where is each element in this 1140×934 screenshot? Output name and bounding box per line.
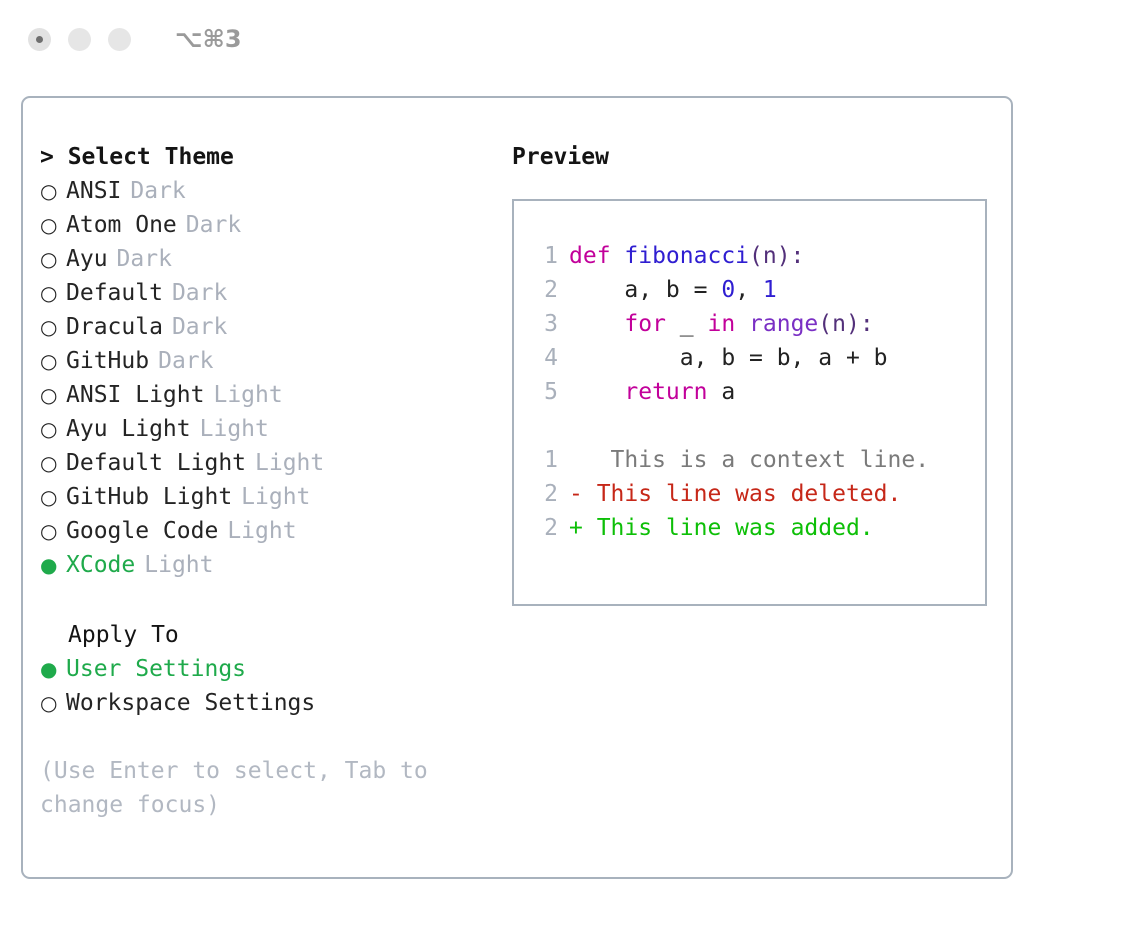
diff-line-text: This is a context line. xyxy=(597,443,929,477)
theme-variant-label: Dark xyxy=(172,276,227,310)
theme-name-label: Default Light xyxy=(66,446,246,480)
theme-list-item[interactable]: ○GitHub LightLight xyxy=(40,480,493,514)
theme-name-label: XCode xyxy=(66,548,135,582)
preview-spacer xyxy=(530,409,985,443)
theme-name-label: GitHub Light xyxy=(66,480,232,514)
theme-variant-label: Light xyxy=(255,446,324,480)
code-line: 4 a, b = b, a + b xyxy=(530,341,985,375)
apply-to-option[interactable]: ●User Settings xyxy=(40,652,493,686)
radio-unselected-icon[interactable]: ○ xyxy=(40,412,66,446)
window-dot-third[interactable] xyxy=(108,28,131,51)
panel-columns: > Select Theme ○ANSIDark○Atom OneDark○Ay… xyxy=(23,98,1011,877)
theme-name-label: Atom One xyxy=(66,208,177,242)
code-line-content: for _ in range(n): xyxy=(569,307,874,341)
radio-unselected-icon[interactable]: ○ xyxy=(40,446,66,480)
radio-selected-icon[interactable]: ● xyxy=(40,548,66,582)
code-token-kw: in xyxy=(707,311,735,337)
preview-box: 1def fibonacci(n):2 a, b = 0, 13 for _ i… xyxy=(512,199,987,606)
theme-list-item[interactable]: ○ANSIDark xyxy=(40,174,493,208)
theme-list-item[interactable]: ○ANSI LightLight xyxy=(40,378,493,412)
code-token-fn: fibonacci xyxy=(624,243,749,269)
theme-variant-label: Light xyxy=(241,480,310,514)
theme-list-item[interactable]: ○GitHubDark xyxy=(40,344,493,378)
theme-list-item[interactable]: ○DefaultDark xyxy=(40,276,493,310)
theme-variant-label: Dark xyxy=(130,174,185,208)
keyboard-hint-text: (Use Enter to select, Tab to change focu… xyxy=(40,754,460,822)
code-token-kw: return xyxy=(624,379,707,405)
window-controls xyxy=(28,28,131,51)
theme-list-item[interactable]: ○Default LightLight xyxy=(40,446,493,480)
theme-variant-label: Dark xyxy=(117,242,172,276)
apply-to-label: Workspace Settings xyxy=(66,686,315,720)
code-line: 2 a, b = 0, 1 xyxy=(530,273,985,307)
theme-variant-label: Light xyxy=(213,378,282,412)
code-token-num: 0 xyxy=(721,277,735,303)
radio-unselected-icon[interactable]: ○ xyxy=(40,276,66,310)
radio-unselected-icon[interactable]: ○ xyxy=(40,378,66,412)
apply-to-label: User Settings xyxy=(66,652,246,686)
window-titlebar: ⌥⌘3 xyxy=(0,0,1140,78)
code-line-content: return a xyxy=(569,375,735,409)
code-token-punc: (n): xyxy=(749,243,804,269)
radio-unselected-icon[interactable]: ○ xyxy=(40,174,66,208)
theme-name-label: Default xyxy=(66,276,163,310)
code-token-kw: for xyxy=(624,311,666,337)
apply-to-section: Apply To ●User Settings○Workspace Settin… xyxy=(40,618,493,720)
theme-variant-label: Light xyxy=(227,514,296,548)
code-sample: 1def fibonacci(n):2 a, b = 0, 13 for _ i… xyxy=(530,239,985,409)
theme-selector-panel: > Select Theme ○ANSIDark○Atom OneDark○Ay… xyxy=(21,96,1013,879)
code-line-number: 5 xyxy=(530,375,558,409)
radio-unselected-icon[interactable]: ○ xyxy=(40,514,66,548)
code-line: 1def fibonacci(n): xyxy=(530,239,985,273)
theme-list-column: > Select Theme ○ANSIDark○Atom OneDark○Ay… xyxy=(23,140,493,877)
window-dot-second[interactable] xyxy=(68,28,91,51)
theme-list-item[interactable]: ○Ayu LightLight xyxy=(40,412,493,446)
radio-unselected-icon[interactable]: ○ xyxy=(40,242,66,276)
apply-to-header: Apply To xyxy=(40,618,493,652)
theme-list-item[interactable]: ○AyuDark xyxy=(40,242,493,276)
select-theme-header: > Select Theme xyxy=(40,140,493,174)
theme-name-label: GitHub xyxy=(66,344,149,378)
code-token-plain: a, b = b, a + b xyxy=(569,345,888,371)
window-dot-active[interactable] xyxy=(28,28,51,51)
preview-column: Preview 1def fibonacci(n):2 a, b = 0, 13… xyxy=(493,140,1011,877)
theme-list[interactable]: ○ANSIDark○Atom OneDark○AyuDark○DefaultDa… xyxy=(40,174,493,582)
diff-line-number: 1 xyxy=(530,443,558,477)
diff-sample: 1 This is a context line.2- This line wa… xyxy=(530,443,985,545)
theme-list-item[interactable]: ○DraculaDark xyxy=(40,310,493,344)
theme-name-label: Google Code xyxy=(66,514,218,548)
code-token-bi: range xyxy=(749,311,818,337)
theme-variant-label: Dark xyxy=(186,208,241,242)
radio-unselected-icon[interactable]: ○ xyxy=(40,310,66,344)
diff-marker: - xyxy=(569,477,597,511)
theme-name-label: ANSI Light xyxy=(66,378,204,412)
theme-variant-label: Light xyxy=(200,412,269,446)
code-token-plain xyxy=(569,311,624,337)
diff-line-text: This line was added. xyxy=(597,511,874,545)
theme-variant-label: Dark xyxy=(158,344,213,378)
diff-marker: + xyxy=(569,511,597,545)
theme-list-item[interactable]: ○Atom OneDark xyxy=(40,208,493,242)
code-token-plain: a xyxy=(707,379,735,405)
code-line-content: a, b = b, a + b xyxy=(569,341,888,375)
theme-name-label: Ayu xyxy=(66,242,108,276)
code-token-plain: a, b = xyxy=(569,277,721,303)
radio-unselected-icon[interactable]: ○ xyxy=(40,686,66,720)
theme-variant-label: Light xyxy=(144,548,213,582)
code-token-num: 1 xyxy=(763,277,777,303)
code-line: 5 return a xyxy=(530,375,985,409)
code-line-number: 1 xyxy=(530,239,558,273)
radio-selected-icon[interactable]: ● xyxy=(40,652,66,686)
code-token-punc: (n): xyxy=(818,311,873,337)
radio-unselected-icon[interactable]: ○ xyxy=(40,208,66,242)
apply-to-list[interactable]: ●User Settings○Workspace Settings xyxy=(40,652,493,720)
radio-unselected-icon[interactable]: ○ xyxy=(40,344,66,378)
window-shortcut-label: ⌥⌘3 xyxy=(175,25,242,53)
code-token-plain xyxy=(735,311,749,337)
theme-name-label: Dracula xyxy=(66,310,163,344)
code-line-content: a, b = 0, 1 xyxy=(569,273,777,307)
diff-line-text: This line was deleted. xyxy=(597,477,902,511)
diff-line: 2- This line was deleted. xyxy=(530,477,985,511)
diff-line: 1 This is a context line. xyxy=(530,443,985,477)
code-token-plain: _ xyxy=(666,311,708,337)
theme-list-item[interactable]: ○Google CodeLight xyxy=(40,514,493,548)
preview-header: Preview xyxy=(512,140,1011,174)
code-line-content: def fibonacci(n): xyxy=(569,239,804,273)
apply-to-option[interactable]: ○Workspace Settings xyxy=(40,686,493,720)
code-token-plain xyxy=(569,379,624,405)
diff-line: 2+ This line was added. xyxy=(530,511,985,545)
diff-line-number: 2 xyxy=(530,511,558,545)
theme-name-label: Ayu Light xyxy=(66,412,191,446)
window-dot-inner xyxy=(36,36,43,43)
diff-marker xyxy=(569,443,597,477)
diff-line-number: 2 xyxy=(530,477,558,511)
code-token-plain: , xyxy=(735,277,763,303)
code-token-kw: def xyxy=(569,243,624,269)
code-line-number: 2 xyxy=(530,273,558,307)
radio-unselected-icon[interactable]: ○ xyxy=(40,480,66,514)
code-line: 3 for _ in range(n): xyxy=(530,307,985,341)
theme-list-item[interactable]: ●XCodeLight xyxy=(40,548,493,582)
code-line-number: 4 xyxy=(530,341,558,375)
theme-name-label: ANSI xyxy=(66,174,121,208)
code-line-number: 3 xyxy=(530,307,558,341)
theme-variant-label: Dark xyxy=(172,310,227,344)
